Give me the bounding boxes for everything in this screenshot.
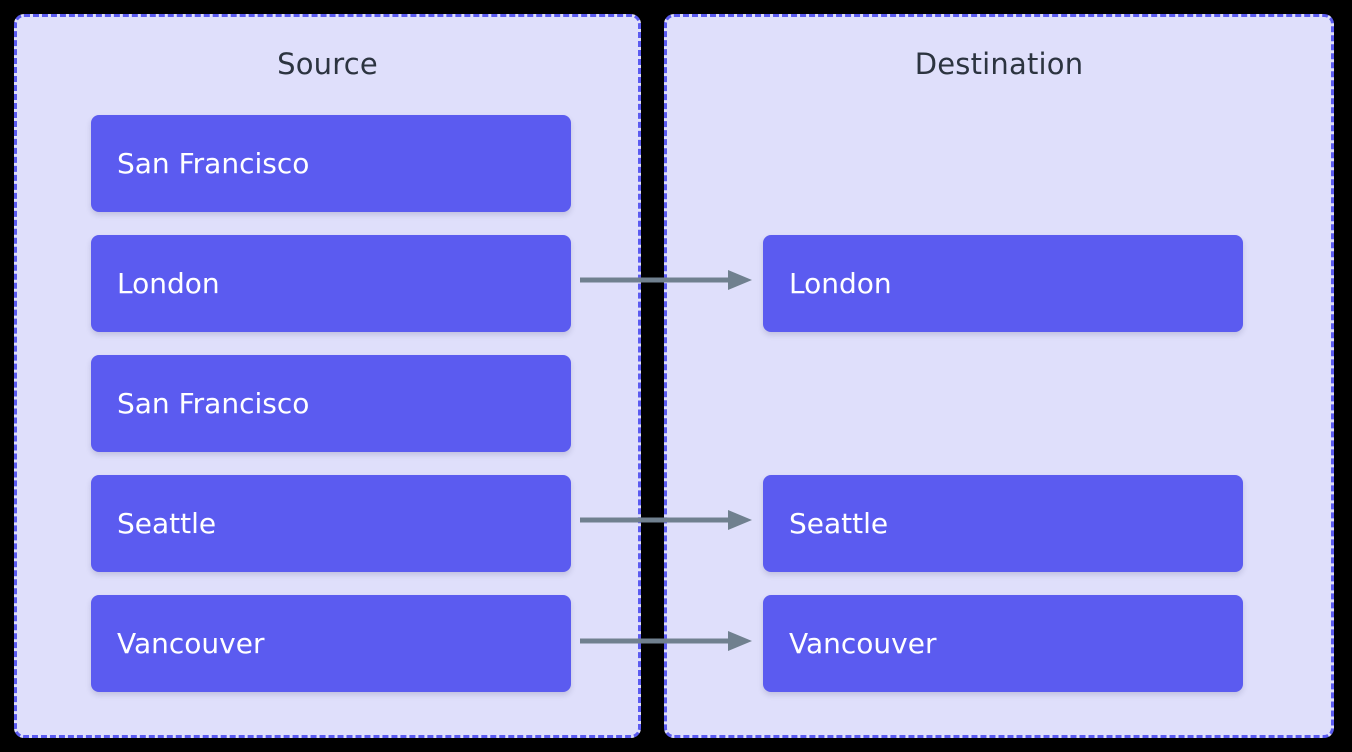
destination-node-4[interactable]: Vancouver <box>763 595 1243 692</box>
diagram-canvas: Source San Francisco London San Francisc… <box>0 0 1352 752</box>
source-node-label: Seattle <box>117 510 216 538</box>
source-node-label: San Francisco <box>117 150 309 178</box>
source-node-label: San Francisco <box>117 390 309 418</box>
source-panel: Source San Francisco London San Francisc… <box>14 14 641 738</box>
destination-node-label: Vancouver <box>789 630 936 658</box>
source-panel-title: Source <box>17 50 638 79</box>
source-node-0[interactable]: San Francisco <box>91 115 571 212</box>
destination-node-1[interactable]: London <box>763 235 1243 332</box>
source-node-3[interactable]: Seattle <box>91 475 571 572</box>
source-node-4[interactable]: Vancouver <box>91 595 571 692</box>
destination-panel: Destination London Seattle Vancouver <box>664 14 1334 738</box>
source-node-2[interactable]: San Francisco <box>91 355 571 452</box>
source-node-label: London <box>117 270 220 298</box>
destination-panel-title: Destination <box>667 50 1331 79</box>
source-node-label: Vancouver <box>117 630 264 658</box>
source-node-1[interactable]: London <box>91 235 571 332</box>
destination-node-3[interactable]: Seattle <box>763 475 1243 572</box>
destination-node-label: Seattle <box>789 510 888 538</box>
destination-node-label: London <box>789 270 892 298</box>
